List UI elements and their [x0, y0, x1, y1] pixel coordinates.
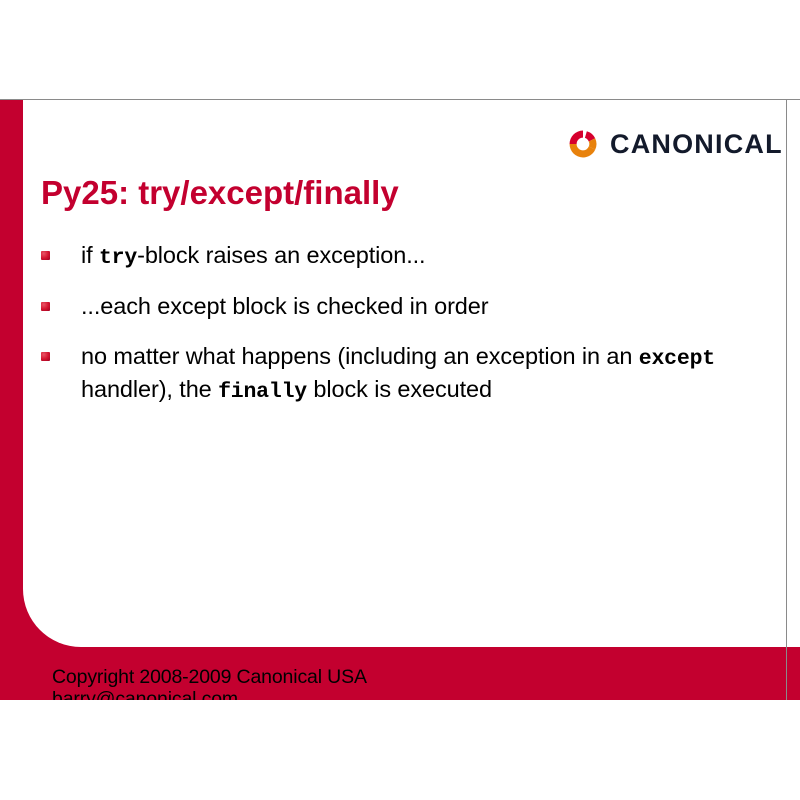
- slide-top-rule: [0, 99, 800, 100]
- canonical-circle-of-friends-logo-icon: [567, 128, 599, 160]
- bullet-text: no matter what happens (including an exc…: [81, 341, 771, 406]
- slide-title: Py25: try/except/finally: [41, 175, 399, 211]
- bullet-text: ...each except block is checked in order: [81, 291, 771, 322]
- footer-email: barry@canonical.com: [52, 688, 612, 700]
- canonical-logo: CANONICAL: [567, 126, 777, 162]
- bullet-square-icon: [41, 352, 50, 361]
- bullet-square-icon: [41, 302, 50, 311]
- footer-copyright: Copyright 2008-2009 Canonical USA: [52, 666, 612, 688]
- bullet-text: if try-block raises an exception...: [81, 240, 771, 272]
- bullet-list: if try-block raises an exception... ...e…: [41, 240, 771, 425]
- list-item: if try-block raises an exception...: [41, 240, 771, 272]
- canonical-wordmark: CANONICAL: [610, 131, 783, 158]
- slide-footer: Copyright 2008-2009 Canonical USA barry@…: [52, 666, 612, 700]
- list-item: ...each except block is checked in order: [41, 291, 771, 322]
- bullet-square-icon: [41, 251, 50, 260]
- slide-right-rule: [786, 99, 787, 700]
- list-item: no matter what happens (including an exc…: [41, 341, 771, 406]
